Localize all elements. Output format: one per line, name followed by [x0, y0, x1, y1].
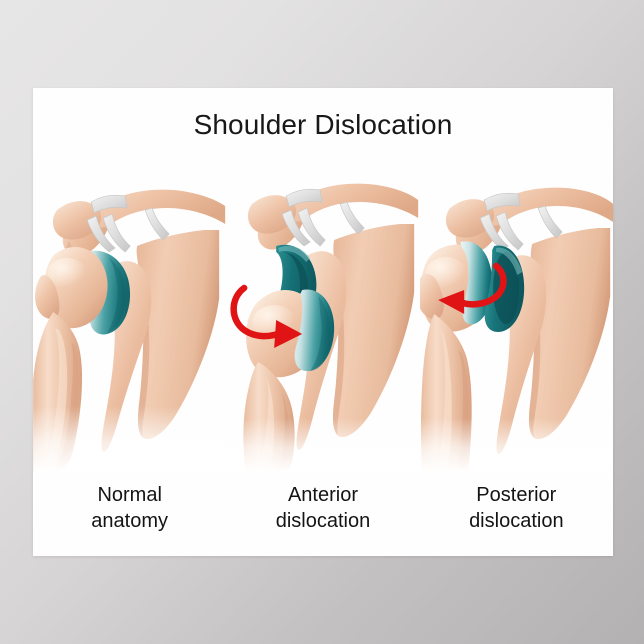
- figure-normal-anatomy: [33, 180, 226, 472]
- bottom-fade: [420, 418, 613, 472]
- trapezoid-ligament: [538, 206, 562, 238]
- illustration-normal-anatomy: [33, 180, 226, 472]
- caption-line-2: anatomy: [33, 508, 226, 534]
- caption-line-1: Normal: [97, 484, 161, 506]
- bottom-fade: [226, 418, 419, 472]
- caption-band: Normal anatomy Anterior dislocation Post…: [33, 482, 613, 552]
- poster-scene: Shoulder Dislocation: [0, 0, 644, 644]
- figure-posterior-dislocation: [420, 180, 613, 472]
- caption-line-1: Posterior: [476, 484, 556, 506]
- trapezoid-ligament: [145, 208, 169, 240]
- figure-band: [33, 180, 613, 472]
- caption-line-2: dislocation: [420, 508, 613, 534]
- illustration-posterior-dislocation: [420, 180, 613, 472]
- bottom-fade: [33, 406, 226, 472]
- page-title: Shoulder Dislocation: [33, 108, 613, 142]
- caption-line-1: Anterior: [288, 484, 358, 506]
- scapula-bone: [529, 228, 610, 439]
- scapula-bone: [333, 224, 414, 437]
- figure-anterior-dislocation: [226, 180, 419, 472]
- poster-sheet: Shoulder Dislocation: [33, 88, 613, 556]
- caption-normal-anatomy: Normal anatomy: [33, 482, 226, 552]
- caption-line-2: dislocation: [226, 508, 419, 534]
- trapezoid-ligament: [340, 202, 364, 234]
- caption-anterior-dislocation: Anterior dislocation: [226, 482, 419, 552]
- caption-posterior-dislocation: Posterior dislocation: [420, 482, 613, 552]
- illustration-anterior-dislocation: [226, 180, 419, 472]
